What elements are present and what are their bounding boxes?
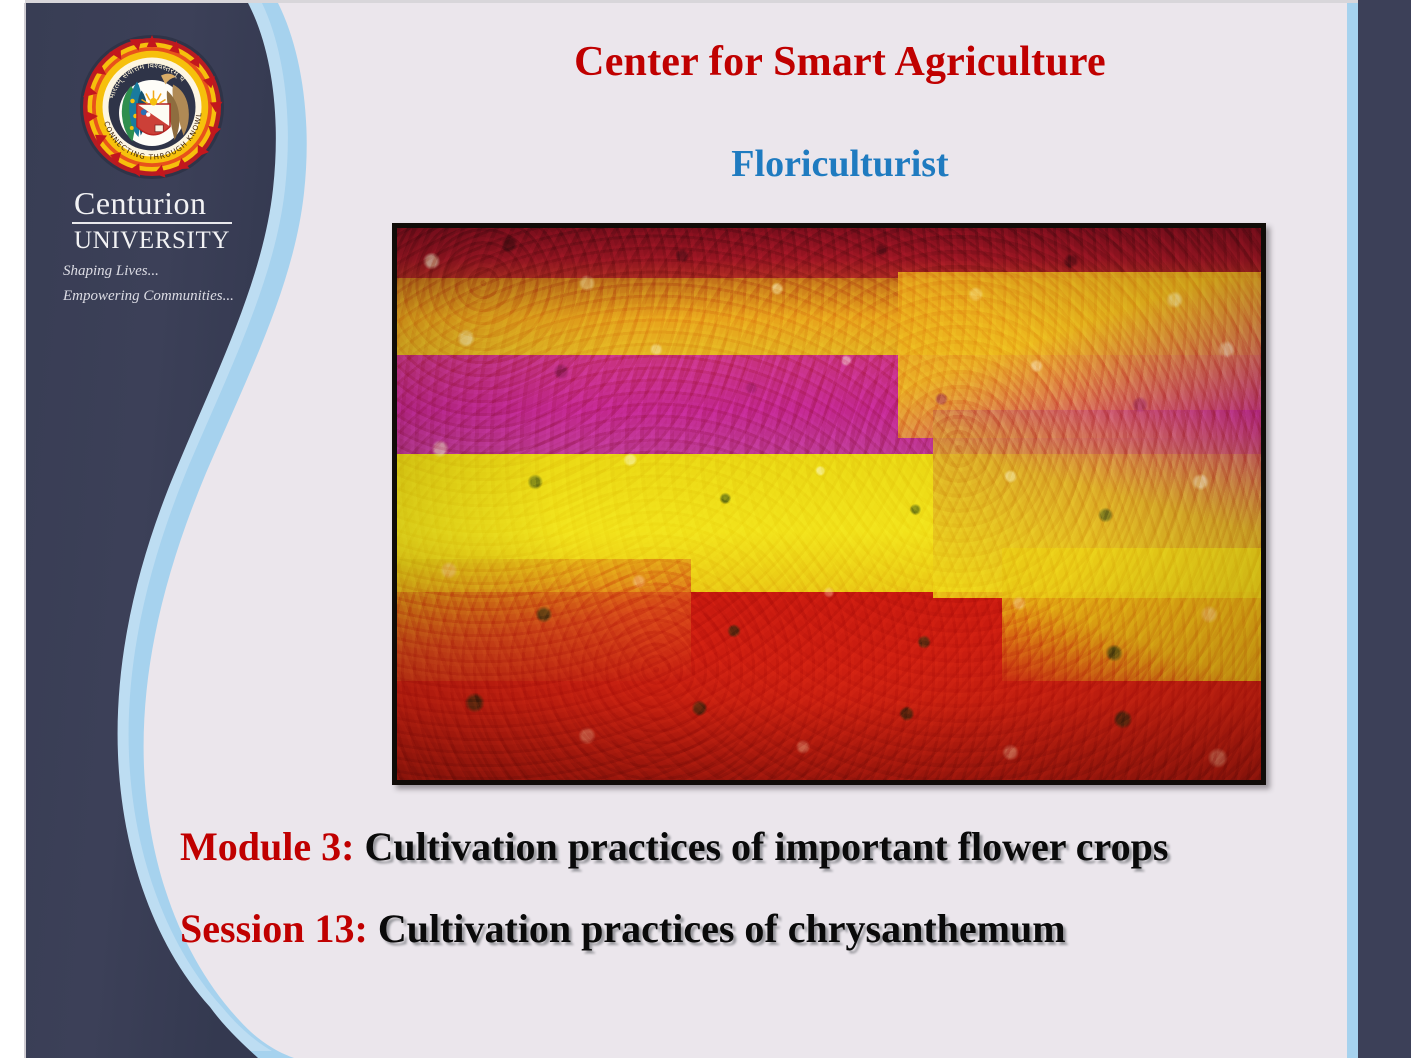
centurion-university-crest-icon: भारतम् सर्वोत्तम विश्वस्तरम् च CONNECTIN… [77, 32, 227, 182]
module-line: Module 3: Cultivation practices of impor… [180, 806, 1342, 888]
page-subtitle: Floriculturist [380, 142, 1300, 186]
right-blue-stripe [1347, 3, 1358, 1058]
session-label: Session 13: [180, 906, 368, 951]
university-name-line1: Centurion [72, 186, 232, 224]
university-tagline-line1: Shaping Lives... [61, 261, 243, 281]
photo-vignette [397, 228, 1261, 780]
university-logo-block: भारतम् सर्वोत्तम विश्वस्तरम् च CONNECTIN… [52, 32, 252, 306]
right-navy-stripe [1358, 0, 1411, 1058]
flower-field-photo [392, 223, 1266, 785]
university-tagline-line2: Empowering Communities... [61, 286, 243, 306]
left-margin [0, 0, 25, 1058]
module-text: Cultivation practices of important flowe… [364, 824, 1168, 869]
flower-field-photo-content [397, 228, 1261, 780]
lesson-text-block: Module 3: Cultivation practices of impor… [180, 806, 1342, 970]
university-name-line2: UNIVERSITY [72, 226, 232, 256]
session-text: Cultivation practices of chrysanthemum [378, 906, 1066, 951]
session-line: Session 13: Cultivation practices of chr… [180, 888, 1342, 970]
module-label: Module 3: [180, 824, 354, 869]
page-title: Center for Smart Agriculture [380, 38, 1300, 86]
slide-canvas: भारतम् सर्वोत्तम विश्वस्तरम् च CONNECTIN… [0, 0, 1411, 1058]
